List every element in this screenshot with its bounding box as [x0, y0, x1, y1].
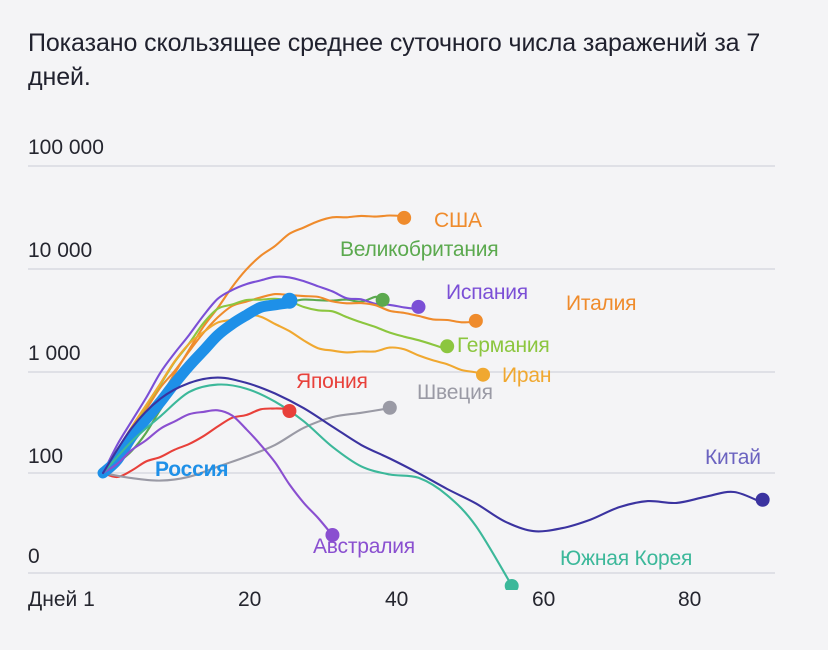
series-label-Южная Корея[interactable]: Южная Корея	[560, 547, 692, 571]
series-endpoint-Швеция[interactable]	[383, 401, 397, 415]
series-endpoint-Великобритания[interactable]	[376, 293, 390, 307]
series-line-Южная Корея	[103, 384, 512, 585]
series-label-Испания[interactable]: Испания	[446, 281, 528, 305]
series-label-США[interactable]: США	[434, 209, 482, 233]
series-endpoint-Южная Корея[interactable]	[505, 579, 519, 590]
x-axis-label-2: 40	[385, 588, 408, 612]
series-label-Китай[interactable]: Китай	[705, 446, 761, 470]
chart-screenshot: Показано скользящее среднее суточного чи…	[0, 0, 828, 650]
y-axis-label-2: 1 000	[28, 342, 81, 366]
series-endpoint-Испания[interactable]	[411, 300, 425, 314]
series-endpoint-Россия[interactable]	[281, 293, 297, 309]
series-endpoint-Китай[interactable]	[756, 493, 770, 507]
line-chart-svg	[0, 120, 828, 590]
page-title: Показано скользящее среднее суточного чи…	[28, 26, 768, 94]
x-axis-label-1: 20	[238, 588, 261, 612]
y-axis-label-0: 100 000	[28, 136, 104, 160]
series-label-Япония[interactable]: Япония	[296, 370, 368, 394]
series-endpoint-Италия[interactable]	[469, 314, 483, 328]
series-label-Швеция[interactable]: Швеция	[417, 381, 493, 405]
series-label-Россия[interactable]: Россия	[155, 458, 228, 482]
series-endpoint-США[interactable]	[397, 211, 411, 225]
y-axis-label-4: 0	[28, 545, 40, 569]
series-endpoint-Иран[interactable]	[476, 368, 490, 382]
x-axis-label-0: Дней 1	[28, 588, 95, 612]
y-axis-label-1: 10 000	[28, 239, 92, 263]
series-label-Великобритания[interactable]: Великобритания	[340, 238, 498, 262]
series-endpoint-dots	[281, 211, 769, 590]
series-label-Италия[interactable]: Италия	[566, 292, 636, 316]
gridlines	[28, 166, 775, 573]
series-label-Германия[interactable]: Германия	[457, 334, 550, 358]
series-label-Австралия[interactable]: Австралия	[313, 535, 415, 559]
series-label-Иран[interactable]: Иран	[502, 364, 551, 388]
chart-plot-area	[0, 120, 828, 590]
series-endpoint-Япония[interactable]	[282, 404, 296, 418]
x-axis-label-4: 80	[678, 588, 701, 612]
y-axis-label-3: 100	[28, 445, 63, 469]
series-endpoint-Германия[interactable]	[440, 339, 454, 353]
x-axis-label-3: 60	[532, 588, 555, 612]
